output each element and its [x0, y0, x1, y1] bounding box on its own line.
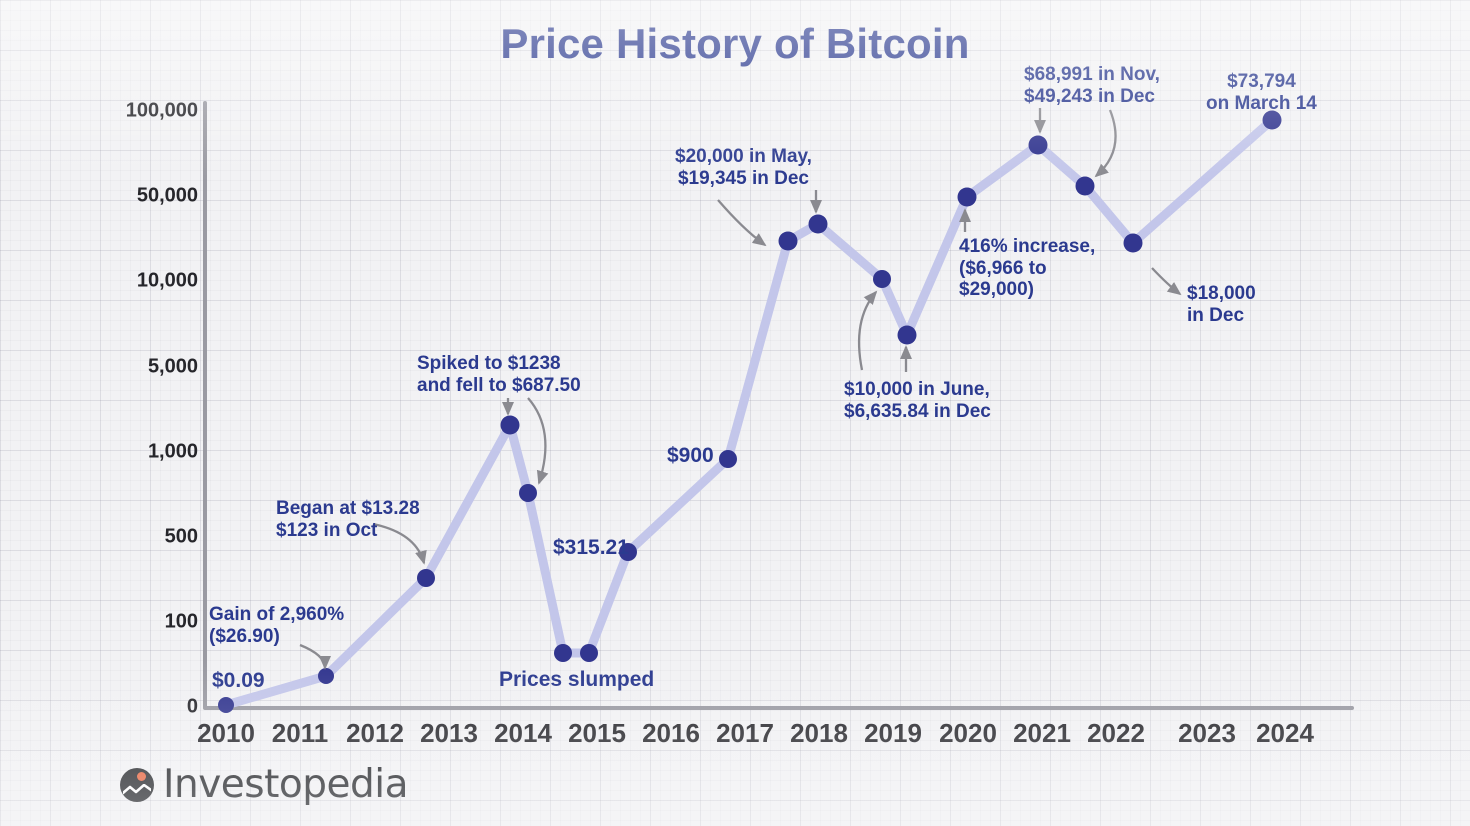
chart-plot	[0, 0, 1470, 826]
investopedia-logo: Investopedia	[120, 762, 408, 807]
annotation-began-2012: Began at $13.28 $123 in Oct	[276, 498, 420, 541]
arrow-to-2021-dec	[1096, 110, 1116, 176]
arrow-to-2017	[718, 200, 765, 245]
annotation-2021-prices: $68,991 in Nov, $49,243 in Dec	[1024, 64, 1160, 107]
price-line	[226, 120, 1272, 705]
chart-canvas: Price History of Bitcoin 100,000 50,000 …	[0, 0, 1470, 826]
logo-zigzag-icon	[123, 784, 151, 797]
annotation-gain-2011: Gain of 2,960% ($26.90)	[209, 604, 344, 647]
annotation-2020-increase: 416% increase, ($6,966 to $29,000)	[959, 236, 1095, 301]
annotation-price-2010: $0.09	[212, 669, 265, 693]
arrow-to-2014	[528, 398, 545, 483]
annotation-price-900: $900	[667, 444, 714, 468]
annotation-2024-price: $73,794 on March 14	[1206, 71, 1317, 114]
arrow-to-2019-june	[859, 292, 876, 370]
annotation-price-315: $315.21	[553, 536, 629, 560]
annotation-2017-prices: $20,000 in May, $19,345 in Dec	[675, 146, 812, 189]
annotation-spiked-2013: Spiked to $1238 and fell to $687.50	[417, 353, 581, 396]
arrow-to-2022	[1152, 268, 1180, 294]
annotation-2022-price: $18,000 in Dec	[1187, 283, 1256, 326]
annotation-2019-prices: $10,000 in June, $6,635.84 in Dec	[844, 379, 991, 422]
investopedia-mark-icon	[120, 768, 154, 802]
annotation-prices-slumped: Prices slumped	[499, 668, 654, 692]
logo-dot-icon	[137, 772, 146, 781]
arrow-to-2011	[300, 645, 325, 668]
investopedia-wordmark: Investopedia	[163, 762, 408, 807]
